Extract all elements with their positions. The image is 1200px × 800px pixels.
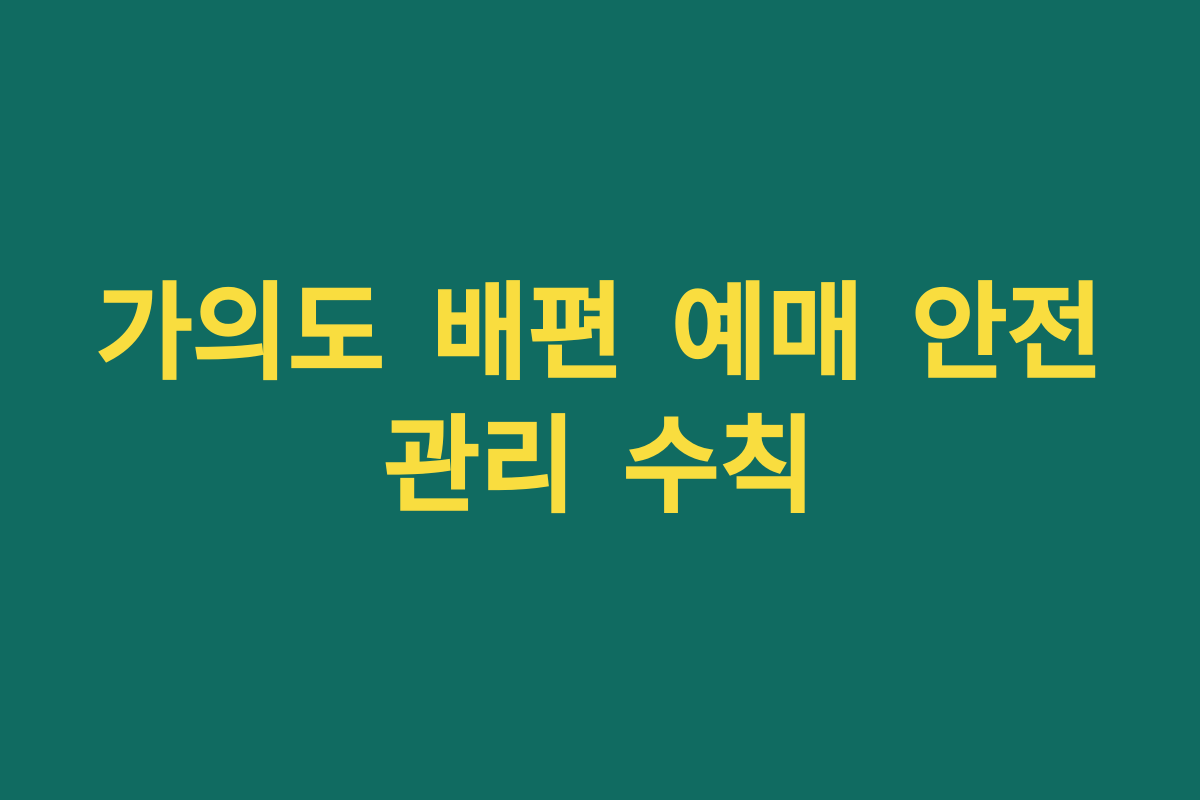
banner-root: 가의도 배편 예매 안전관리 수칙 xyxy=(0,0,1200,800)
page-title: 가의도 배편 예매 안전관리 수칙 xyxy=(70,267,1130,533)
headline-block: 가의도 배편 예매 안전관리 수칙 xyxy=(70,267,1130,533)
